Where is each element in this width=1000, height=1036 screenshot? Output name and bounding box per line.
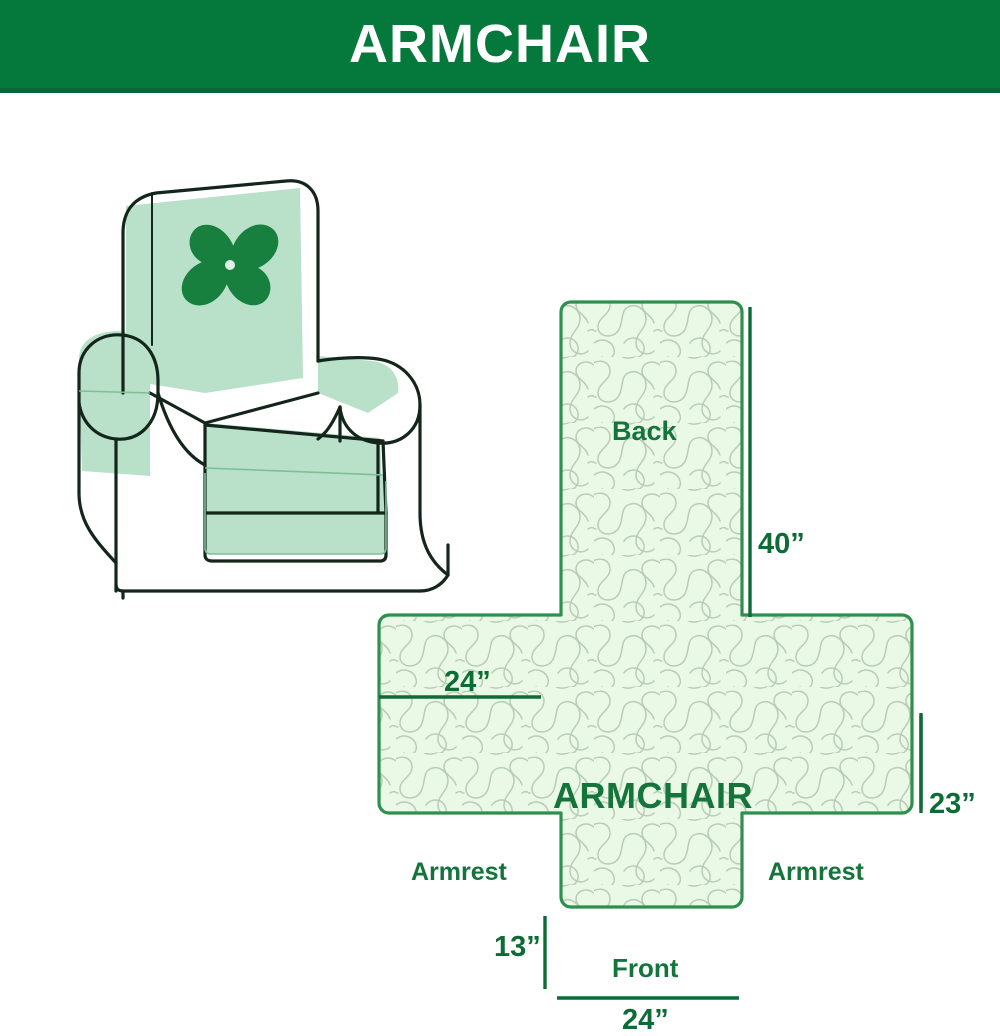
dimension-label-body-height: 23” bbox=[929, 790, 976, 819]
panel-label-armrest-left: Armrest bbox=[411, 860, 507, 885]
diagram-stage: Back ARMCHAIR Armrest Armrest Front 40” … bbox=[0, 93, 1000, 1000]
dimension-label-back-height: 40” bbox=[758, 530, 805, 559]
dimension-label-front-height: 13” bbox=[494, 933, 541, 962]
panel-label-armrest-right: Armrest bbox=[768, 860, 864, 885]
dimension-label-front-width: 24” bbox=[622, 1006, 669, 1035]
cover-cross-shape bbox=[379, 302, 912, 907]
dimension-label-armrest-width: 24” bbox=[444, 668, 491, 697]
header-banner: ARMCHAIR bbox=[0, 0, 1000, 88]
page-title: ARMCHAIR bbox=[349, 17, 651, 71]
panel-label-front: Front bbox=[612, 955, 678, 981]
pattern-center-label: ARMCHAIR bbox=[553, 778, 753, 814]
panel-label-back: Back bbox=[612, 418, 677, 445]
